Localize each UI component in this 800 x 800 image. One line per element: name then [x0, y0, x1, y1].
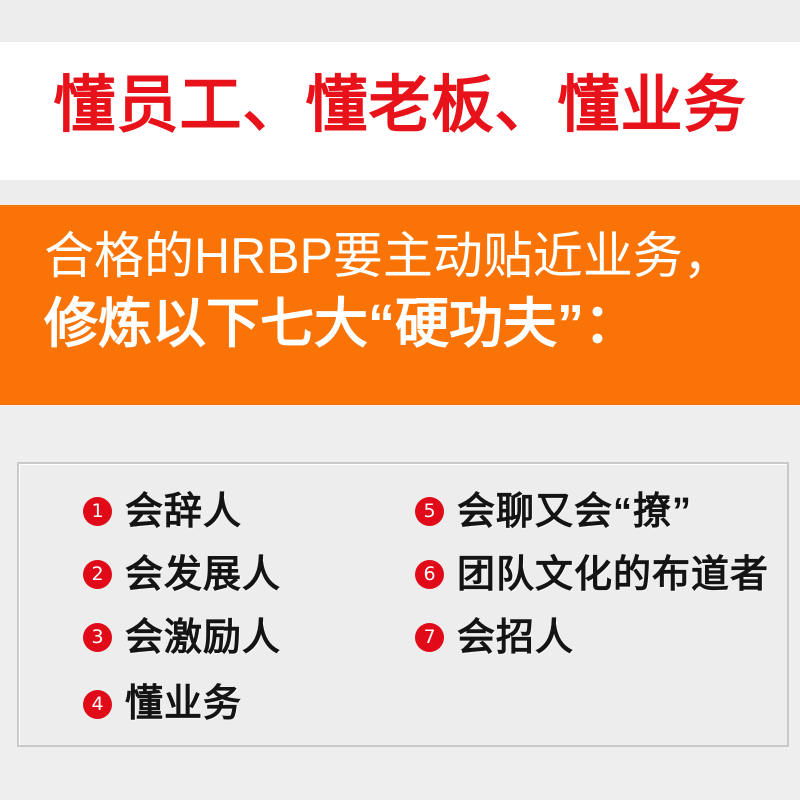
list-item: 1 会辞人 [83, 480, 281, 543]
top-gray-strip [0, 0, 800, 42]
list-item-label: 会招人 [457, 616, 574, 660]
skills-list-panel: 1 会辞人 2 会发展人 3 会激励人 4 懂业务 5 会聊又会“撩” 6 [17, 462, 789, 747]
list-item: 5 会聊又会“撩” [415, 480, 769, 543]
number-badge-icon: 4 [83, 690, 112, 719]
number-badge-icon: 1 [83, 497, 112, 526]
list-item: 4 懂业务 [83, 669, 281, 739]
number-badge-icon: 7 [415, 623, 444, 652]
orange-banner: 合格的HRBP要主动贴近业务， 修炼以下七大“硬功夫”： [0, 205, 800, 405]
number-badge-icon: 2 [83, 560, 112, 589]
skills-column-right: 5 会聊又会“撩” 6 团队文化的布道者 7 会招人 [415, 480, 769, 669]
page-title: 懂员工、懂老板、懂业务 [0, 70, 800, 142]
list-item-label: 会发展人 [125, 553, 281, 597]
list-item: 2 会发展人 [83, 543, 281, 606]
list-item: 3 会激励人 [83, 606, 281, 669]
poster-canvas: 懂员工、懂老板、懂业务 合格的HRBP要主动贴近业务， 修炼以下七大“硬功夫”：… [0, 0, 800, 800]
list-item: 7 会招人 [415, 606, 769, 669]
list-item-label: 懂业务 [125, 682, 242, 726]
banner-line-1: 合格的HRBP要主动贴近业务， [44, 227, 733, 285]
banner-line-2: 修炼以下七大“硬功夫”： [44, 293, 638, 355]
list-item-label: 会辞人 [125, 490, 242, 534]
list-item-label: 团队文化的布道者 [457, 553, 769, 597]
number-badge-icon: 6 [415, 560, 444, 589]
skills-column-left: 1 会辞人 2 会发展人 3 会激励人 4 懂业务 [83, 480, 281, 739]
number-badge-icon: 3 [83, 623, 112, 652]
list-item: 6 团队文化的布道者 [415, 543, 769, 606]
divider-gray-gap [0, 180, 800, 205]
list-item-label: 会聊又会“撩” [457, 490, 692, 534]
list-item-label: 会激励人 [125, 616, 281, 660]
number-badge-icon: 5 [415, 497, 444, 526]
